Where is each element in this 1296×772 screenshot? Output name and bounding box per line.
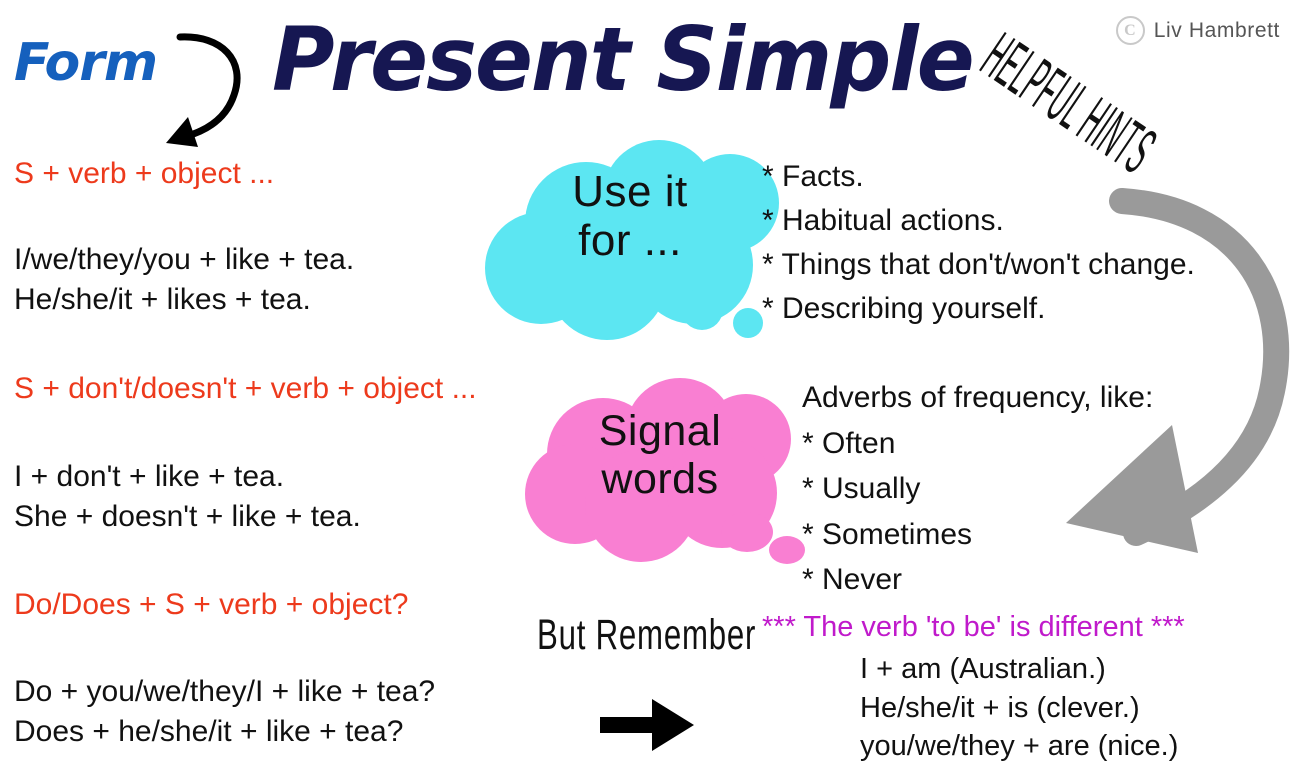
gray-curved-arrow-icon (1040, 175, 1296, 555)
to-be-examples: I + am (Australian.) He/she/it + is (cle… (860, 650, 1178, 766)
signal-words-cloud: Signal words (525, 378, 815, 568)
form-rule-negative: S + don't/doesn't + verb + object ... (14, 372, 477, 406)
cloud-tail-blob (681, 288, 723, 330)
right-arrow-icon (600, 697, 696, 753)
curved-arrow-icon (150, 25, 280, 155)
signal-words-label: Signal words (565, 407, 755, 503)
form-label: Form (14, 33, 157, 93)
form-examples-affirmative: I/we/they/you + like + tea. He/she/it + … (14, 240, 354, 320)
cloud-tail-blob (721, 512, 773, 552)
form-examples-question: Do + you/we/they/I + like + tea? Does + … (14, 672, 435, 752)
to-be-heading: *** The verb 'to be' is different *** (762, 611, 1185, 644)
use-it-for-label: Use it for ... (535, 167, 725, 266)
list-item: * Never (802, 557, 1153, 603)
copyright-icon: C (1116, 16, 1145, 45)
copyright-name: Liv Hambrett (1154, 19, 1280, 43)
form-examples-negative: I + don't + like + tea. She + doesn't + … (14, 457, 361, 537)
but-remember-label: But Remember (537, 612, 756, 660)
form-rule-affirmative: S + verb + object ... (14, 157, 274, 191)
infographic-canvas: Form Present Simple C Liv Hambrett HELPF… (0, 0, 1296, 772)
copyright-attribution: C Liv Hambrett (1116, 16, 1280, 45)
page-title: Present Simple (272, 16, 973, 104)
cloud-tail-blob (733, 308, 763, 338)
use-it-for-cloud: Use it for ... (485, 140, 795, 340)
form-rule-question: Do/Does + S + verb + object? (14, 588, 408, 622)
